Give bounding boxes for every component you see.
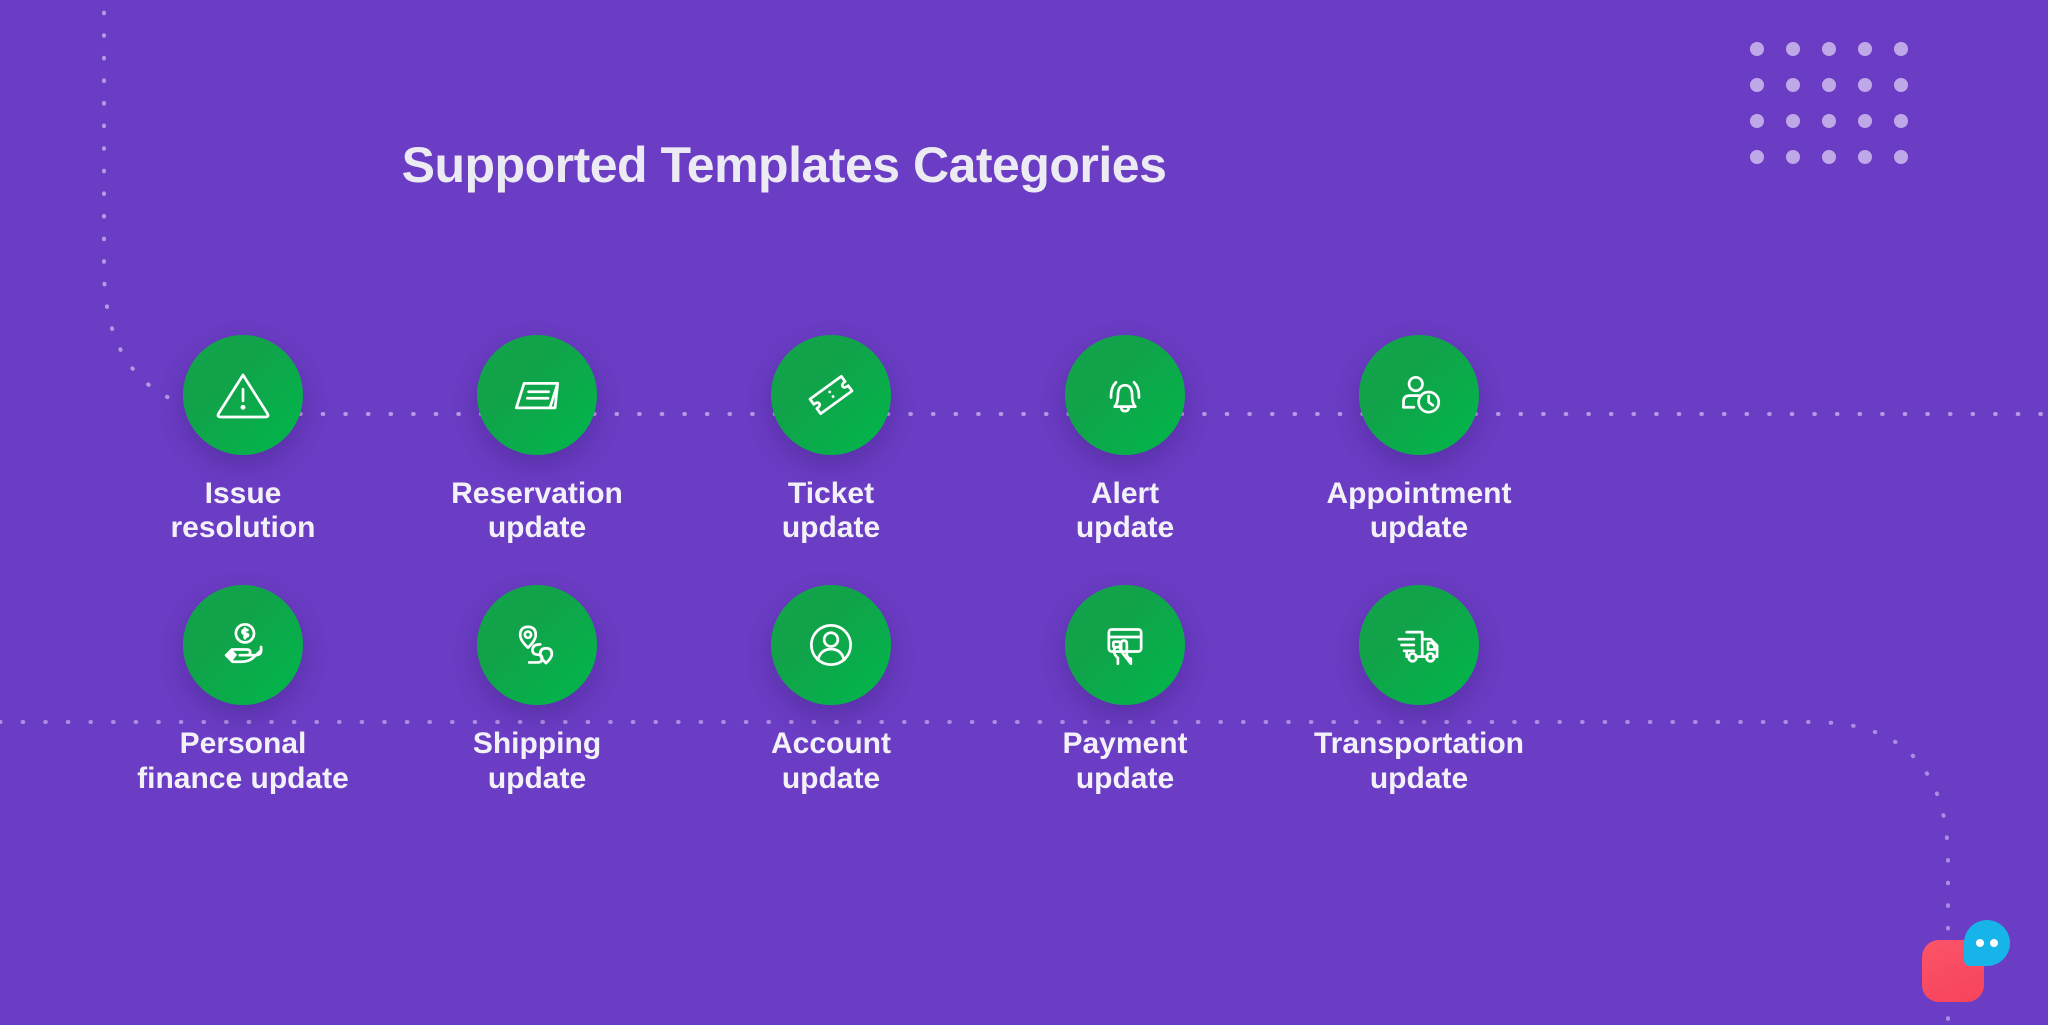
user-circle-icon bbox=[800, 614, 862, 676]
grid-dot bbox=[1786, 150, 1800, 164]
category-icon-circle bbox=[1065, 585, 1185, 705]
category-icon-circle bbox=[1065, 335, 1185, 455]
category-label-line1: Payment bbox=[1062, 727, 1187, 761]
grid-dot bbox=[1750, 114, 1764, 128]
grid-dot bbox=[1786, 114, 1800, 128]
category-grid: Issue resolution Reservation update bbox=[96, 335, 1566, 796]
grid-dot bbox=[1786, 78, 1800, 92]
category-label: Alert update bbox=[1076, 477, 1174, 545]
warning-triangle-icon bbox=[212, 364, 274, 426]
grid-dot bbox=[1822, 42, 1836, 56]
card-hand-icon bbox=[1094, 614, 1156, 676]
category-icon-circle bbox=[1359, 335, 1479, 455]
tent-card-icon bbox=[506, 364, 568, 426]
grid-dot bbox=[1858, 78, 1872, 92]
category-item-alert-update[interactable]: Alert update bbox=[978, 335, 1272, 545]
category-label: Personal finance update bbox=[137, 727, 349, 795]
bubble-dot bbox=[1990, 939, 1998, 947]
route-pins-icon bbox=[506, 614, 568, 676]
ticket-icon bbox=[800, 364, 862, 426]
brand-chat-widget[interactable] bbox=[1922, 920, 2032, 1012]
category-label-line1: Personal bbox=[137, 727, 349, 761]
bubble-dot bbox=[1976, 939, 1984, 947]
grid-dot bbox=[1822, 78, 1836, 92]
bell-icon bbox=[1094, 364, 1156, 426]
category-label-line1: Alert bbox=[1076, 477, 1174, 511]
category-label: Appointment update bbox=[1327, 477, 1512, 545]
grid-dot bbox=[1894, 78, 1908, 92]
category-label: Ticket update bbox=[782, 477, 880, 545]
category-icon-circle bbox=[477, 335, 597, 455]
category-label: Issue resolution bbox=[170, 477, 315, 545]
category-label-line1: Shipping bbox=[473, 727, 601, 761]
category-item-transportation-update[interactable]: Transportation update bbox=[1272, 585, 1566, 795]
dot-grid-decoration bbox=[1750, 42, 1930, 186]
category-label: Reservation update bbox=[451, 477, 623, 545]
hand-coin-icon bbox=[212, 614, 274, 676]
category-label: Transportation update bbox=[1314, 727, 1524, 795]
category-item-account-update[interactable]: Account update bbox=[684, 585, 978, 795]
grid-dot bbox=[1750, 150, 1764, 164]
category-item-ticket-update[interactable]: Ticket update bbox=[684, 335, 978, 545]
category-label-line2: update bbox=[1062, 762, 1187, 796]
grid-dot bbox=[1822, 114, 1836, 128]
category-label-line1: Reservation bbox=[451, 477, 623, 511]
category-label-line2: update bbox=[473, 762, 601, 796]
category-label-line1: Ticket bbox=[782, 477, 880, 511]
category-icon-circle bbox=[771, 335, 891, 455]
grid-dot bbox=[1786, 42, 1800, 56]
grid-dot bbox=[1858, 42, 1872, 56]
delivery-truck-icon bbox=[1388, 614, 1450, 676]
category-label-line1: Account bbox=[771, 727, 891, 761]
grid-dot bbox=[1858, 150, 1872, 164]
grid-dot bbox=[1750, 78, 1764, 92]
category-label-line1: Appointment bbox=[1327, 477, 1512, 511]
category-item-issue-resolution[interactable]: Issue resolution bbox=[96, 335, 390, 545]
person-clock-icon bbox=[1388, 364, 1450, 426]
category-label-line1: Issue bbox=[170, 477, 315, 511]
category-item-shipping-update[interactable]: Shipping update bbox=[390, 585, 684, 795]
category-icon-circle bbox=[1359, 585, 1479, 705]
category-icon-circle bbox=[183, 335, 303, 455]
category-label-line2: update bbox=[451, 511, 623, 545]
category-label: Account update bbox=[771, 727, 891, 795]
page-title: Supported Templates Categories bbox=[0, 136, 1568, 194]
category-icon-circle bbox=[477, 585, 597, 705]
category-item-payment-update[interactable]: Payment update bbox=[978, 585, 1272, 795]
category-label-line1: Transportation bbox=[1314, 727, 1524, 761]
grid-dot bbox=[1822, 150, 1836, 164]
category-item-personal-finance-update[interactable]: Personal finance update bbox=[96, 585, 390, 795]
grid-dot bbox=[1858, 114, 1872, 128]
chat-bubble-icon bbox=[1964, 920, 2010, 966]
category-label-line2: update bbox=[1314, 762, 1524, 796]
grid-dot bbox=[1894, 114, 1908, 128]
category-label: Payment update bbox=[1062, 727, 1187, 795]
grid-dot bbox=[1894, 42, 1908, 56]
category-label-line2: update bbox=[1327, 511, 1512, 545]
category-label: Shipping update bbox=[473, 727, 601, 795]
grid-dot bbox=[1750, 42, 1764, 56]
category-item-reservation-update[interactable]: Reservation update bbox=[390, 335, 684, 545]
category-icon-circle bbox=[771, 585, 891, 705]
grid-dot bbox=[1894, 150, 1908, 164]
category-label-line2: update bbox=[782, 511, 880, 545]
category-icon-circle bbox=[183, 585, 303, 705]
slide-canvas: Supported Templates Categories Issue res… bbox=[0, 0, 2048, 1025]
category-item-appointment-update[interactable]: Appointment update bbox=[1272, 335, 1566, 545]
category-label-line2: finance update bbox=[137, 762, 349, 796]
category-label-line2: update bbox=[771, 762, 891, 796]
category-label-line2: update bbox=[1076, 511, 1174, 545]
category-label-line2: resolution bbox=[170, 511, 315, 545]
